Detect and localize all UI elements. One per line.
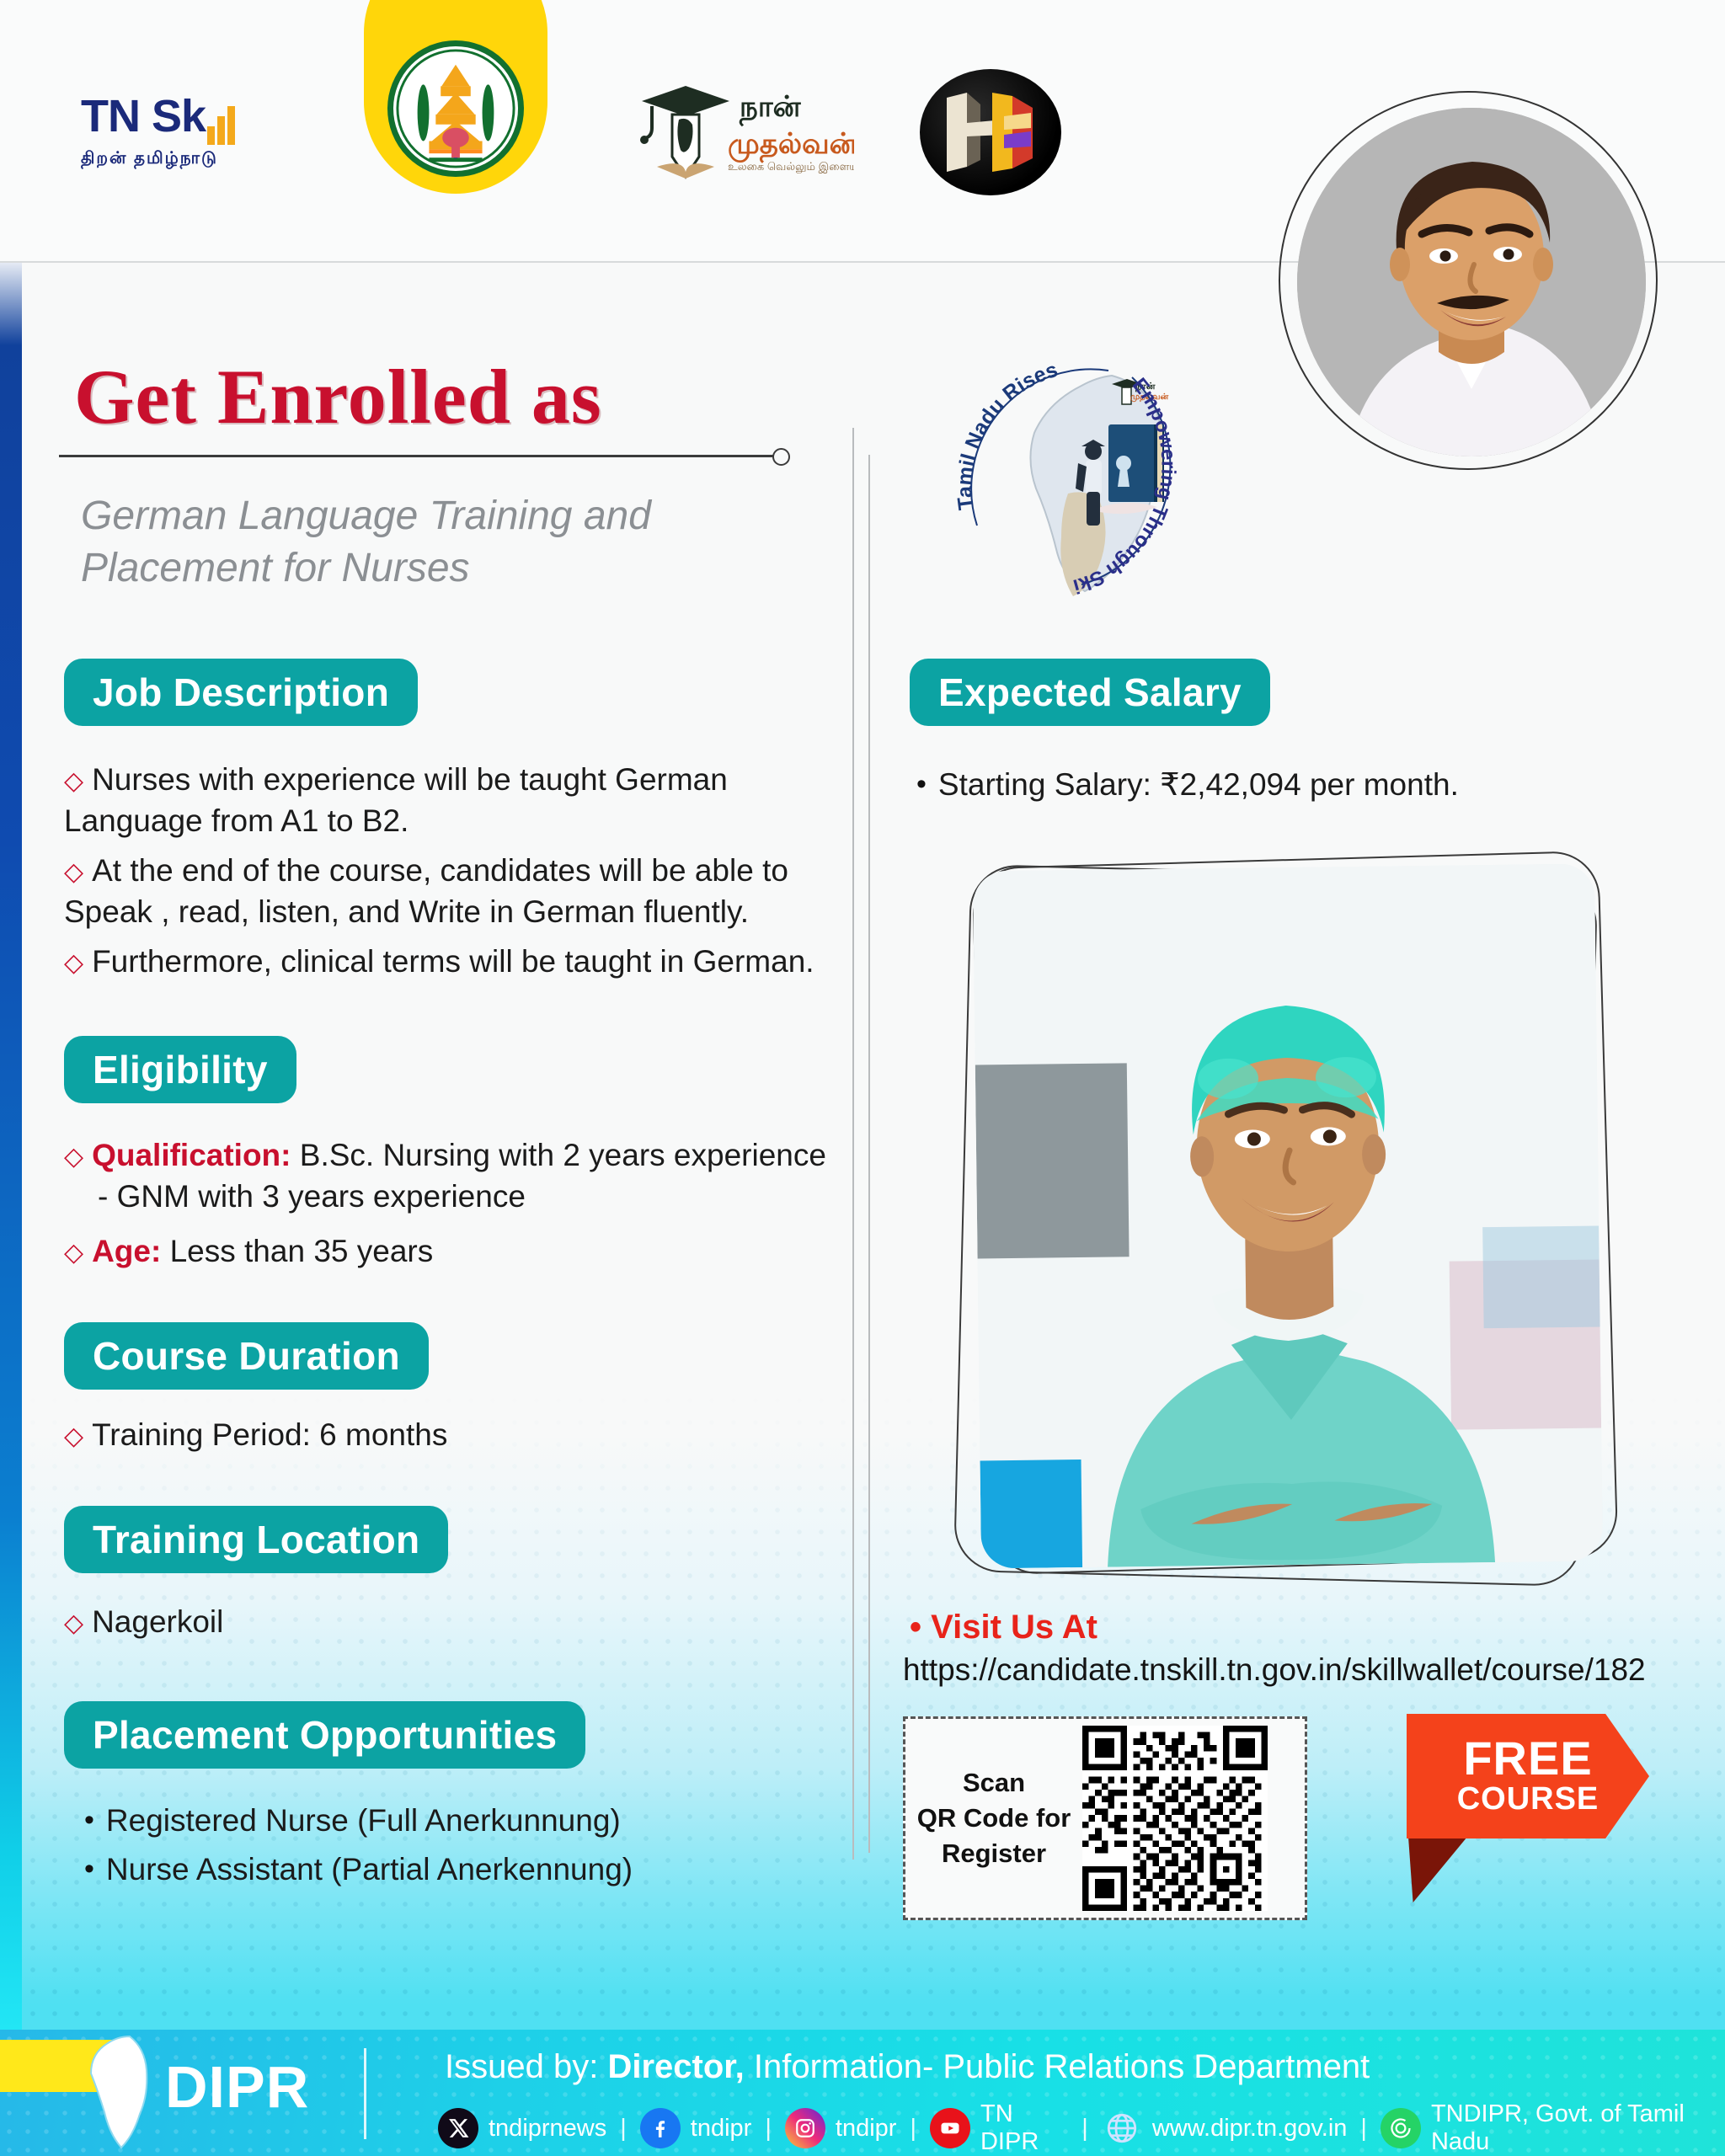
placement-item-1-text: Registered Nurse (Full Anerkunnung) (106, 1803, 621, 1838)
social-handle-x: tndiprnews (489, 2115, 606, 2143)
eligibility-qualification: ◇Qualification: B.Sc. Nursing with 2 yea… (64, 1135, 856, 1216)
tamil-nadu-rises-emblem: நான் முதல்வன் Tamil Nadu Rises Empowerin… (943, 337, 1263, 598)
free-badge-line-2: COURSE (1457, 1781, 1599, 1817)
qr-line-3: Register (905, 1836, 1082, 1871)
section-heading-course-duration: Course Duration (64, 1322, 429, 1390)
diamond-bullet-icon: ◇ (64, 949, 83, 977)
expected-salary-item: •Starting Salary: ₹2,42,094 per month. (916, 765, 1641, 804)
svg-text:முதல்வன்: முதல்வன் (728, 128, 854, 163)
footer-divider (364, 2048, 366, 2139)
visit-us-at-label: • Visit Us At (910, 1609, 1097, 1646)
eligibility-age: ◇Age: Less than 35 years (64, 1231, 856, 1273)
instagram-icon[interactable] (785, 2108, 825, 2148)
course-duration-item-text: Training Period: 6 months (92, 1417, 447, 1452)
tn-skill-logo-text: TN Sk (81, 91, 206, 141)
diamond-bullet-icon: ◇ (64, 1239, 83, 1267)
x-twitter-icon[interactable] (438, 2108, 478, 2148)
job-description-item-2: ◇At the end of the course, candidates wi… (64, 851, 839, 931)
free-badge-line-1: FREE (1463, 1736, 1592, 1781)
social-item-whatsapp[interactable]: TNDIPR, Govt. of Tamil Nadu (1381, 2100, 1725, 2156)
separator-pipe: | (1081, 2115, 1088, 2143)
visit-url[interactable]: https://candidate.tnskill.tn.gov.in/skil… (903, 1652, 1646, 1688)
diamond-bullet-icon: ◇ (64, 1143, 83, 1171)
separator-pipe: | (910, 2115, 916, 2143)
tn-skill-bars-icon (207, 98, 238, 145)
poster-header: TN Sk திறன் தமிழ்நாடு (0, 0, 1725, 263)
qr-line-1: Scan (905, 1765, 1082, 1801)
nurse-photo (973, 864, 1603, 1569)
social-handle-whatsapp: TNDIPR, Govt. of Tamil Nadu (1431, 2100, 1725, 2156)
diamond-bullet-icon: ◇ (64, 1609, 83, 1637)
badge-ribbon: FREE COURSE (1407, 1714, 1649, 1838)
placement-item-1: •Registered Nurse (Full Anerkunnung) (84, 1801, 859, 1840)
section-heading-expected-salary: Expected Salary (910, 659, 1270, 726)
poster-footer: DIPR Issued by: Director, Information- P… (0, 2030, 1725, 2156)
social-item-website[interactable]: www.dipr.tn.gov.in (1102, 2108, 1348, 2148)
svg-text:நான்: நான் (739, 91, 802, 126)
diamond-bullet-icon: ◇ (64, 1422, 83, 1450)
left-accent-strip (0, 253, 22, 2030)
job-description-item-3: ◇Furthermore, clinical terms will be tau… (64, 942, 873, 983)
issued-by-prefix: Issued by: (445, 2048, 607, 2085)
page-subtitle: German Language Training and Placement f… (81, 490, 805, 595)
tamil-nadu-map-icon (81, 2035, 153, 2149)
course-duration-item: ◇Training Period: 6 months (64, 1415, 822, 1456)
social-handle-facebook: tndipr (691, 2115, 752, 2143)
qr-code-icon[interactable] (1082, 1726, 1268, 1911)
bullet-dot-icon: • (916, 768, 927, 800)
training-location-item-text: Nagerkoil (92, 1604, 223, 1639)
separator-pipe: | (765, 2115, 772, 2143)
issued-by-department: Information- Public Relations Department (745, 2048, 1370, 2085)
whatsapp-icon[interactable] (1381, 2108, 1421, 2148)
tn-skill-logo: TN Sk திறன் தமிழ்நாடு (81, 93, 275, 185)
tamil-nadu-government-emblem (387, 40, 524, 177)
bullet-dot-icon: • (84, 1853, 94, 1885)
eligibility-age-value: Less than 35 years (170, 1234, 434, 1268)
chief-minister-portrait (1297, 108, 1646, 456)
issued-by-line: Issued by: Director, Information- Public… (445, 2048, 1370, 2086)
job-description-item-1-text: Nurses with experience will be taught Ge… (64, 762, 728, 838)
bullet-dot-icon: • (84, 1804, 94, 1836)
eligibility-qualification-value: B.Sc. Nursing with 2 years experience (300, 1138, 826, 1172)
section-heading-placement-opportunities: Placement Opportunities (64, 1701, 585, 1769)
social-handle-website: www.dipr.tn.gov.in (1152, 2115, 1348, 2143)
separator-pipe: | (620, 2115, 627, 2143)
qr-code-box[interactable]: Scan QR Code for Register (903, 1716, 1307, 1920)
svg-text:உலகை வெல்லும் இளைய தமிழகம்: உலகை வெல்லும் இளைய தமிழகம் (728, 160, 854, 173)
issued-by-role: Director, (607, 2048, 744, 2085)
section-heading-job-description: Job Description (64, 659, 418, 726)
section-heading-eligibility: Eligibility (64, 1036, 296, 1103)
diamond-bullet-icon: ◇ (64, 858, 83, 886)
eligibility-qualification-line2: - GNM with 3 years experience (98, 1177, 856, 1216)
facebook-icon[interactable] (640, 2108, 681, 2148)
column-divider-right (868, 455, 870, 1853)
section-heading-training-location: Training Location (64, 1506, 448, 1573)
globe-icon[interactable] (1102, 2108, 1142, 2148)
social-item-instagram[interactable]: tndipr (785, 2108, 897, 2148)
separator-pipe: | (1360, 2115, 1367, 2143)
social-handle-youtube: TN DIPR (980, 2100, 1068, 2156)
free-course-badge: FREE COURSE (1407, 1714, 1676, 1865)
dipr-logo-text: DIPR (165, 2053, 309, 2121)
social-item-x[interactable]: tndiprnews (438, 2108, 606, 2148)
bullet-dot-icon: • (910, 1609, 921, 1646)
eligibility-age-label: Age: (92, 1234, 161, 1268)
social-handle-instagram: tndipr (836, 2115, 897, 2143)
placement-item-2: •Nurse Assistant (Partial Anerkennung) (84, 1849, 859, 1889)
training-location-item: ◇Nagerkoil (64, 1602, 822, 1643)
footer-social-list: tndiprnews | tndipr | tndipr | (438, 2100, 1725, 2156)
social-item-youtube[interactable]: TN DIPR (930, 2100, 1068, 2156)
badge-tail-shape (1408, 1837, 1467, 1903)
page-title: Get Enrolled as (74, 352, 602, 441)
expected-salary-item-text: Starting Salary: ₹2,42,094 per month. (938, 767, 1459, 802)
qr-line-2: QR Code for (905, 1801, 1082, 1836)
qr-instruction-text: Scan QR Code for Register (905, 1765, 1082, 1871)
job-description-item-3-text: Furthermore, clinical terms will be taug… (92, 944, 814, 979)
placement-item-2-text: Nurse Assistant (Partial Anerkennung) (106, 1852, 633, 1886)
poster-canvas: TN Sk திறன் தமிழ்நாடு (0, 0, 1725, 2156)
social-item-facebook[interactable]: tndipr (640, 2108, 752, 2148)
title-underline (59, 455, 773, 457)
naan-mudhalvan-logo: நான் முதல்வன் உலகை வெல்லும் இளைய தமிழகம் (633, 76, 854, 185)
youtube-icon[interactable] (930, 2108, 970, 2148)
tn-skill-logo-subtext: திறன் தமிழ்நாடு (81, 149, 275, 170)
diamond-bullet-icon: ◇ (64, 767, 83, 795)
eligibility-qualification-label: Qualification: (92, 1138, 291, 1172)
visit-us-at-text: Visit Us At (931, 1609, 1097, 1646)
job-description-item-2-text: At the end of the course, candidates wil… (64, 853, 788, 929)
hlc-logo (920, 69, 1061, 195)
job-description-item-1: ◇Nurses with experience will be taught G… (64, 760, 839, 841)
